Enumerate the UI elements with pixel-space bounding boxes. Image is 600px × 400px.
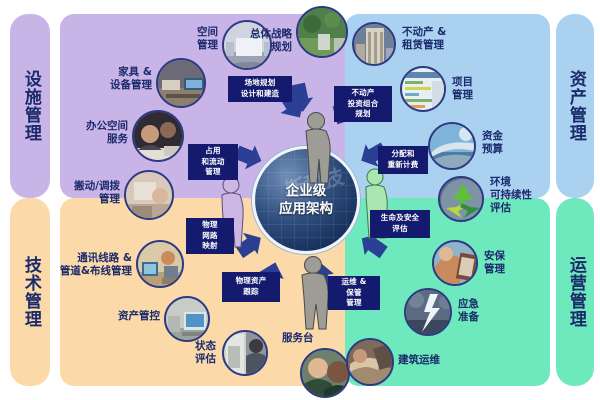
node-label-condition-assess: 状态 评估 xyxy=(168,340,216,366)
process-network-mapping[interactable]: 物理 网路 映射 xyxy=(186,218,234,254)
node-label-emergency-prep: 应急 准备 xyxy=(458,298,502,324)
process-realestate-portfolio[interactable]: 不动产 投资组合 规划 xyxy=(334,86,392,122)
node-label-env-sustain: 环境 可持续性 评估 xyxy=(490,176,548,214)
diagram-canvas: 设施管理 技术管理 资产管理 运营管理 xyxy=(0,0,600,400)
node-label-strategy-plan: 总体战略 规划 xyxy=(246,28,292,54)
process-om-custody[interactable]: 运维 & 保管 管理 xyxy=(328,276,380,310)
node-label-office-space-svc: 办公空间 服务 xyxy=(72,120,128,146)
node-label-move-transfer: 搬动/调拨 管理 xyxy=(58,180,120,206)
process-allocation-chargeback[interactable]: 分配和 重新计费 xyxy=(378,146,428,174)
person-silhouette-grey-top xyxy=(300,112,332,186)
process-life-safety[interactable]: 生命及安全 评估 xyxy=(370,210,430,238)
node-label-asset-control: 资产管控 xyxy=(102,310,160,323)
center-label: 企业级 应用架构 xyxy=(279,182,333,218)
node-label-realestate-lease: 不动产 & 租赁管理 xyxy=(402,26,480,52)
node-label-project-mgmt: 项目 管理 xyxy=(452,76,498,102)
process-asset-tracking[interactable]: 物理资产 跟踪 xyxy=(222,272,280,302)
node-label-service-desk: 服务台 xyxy=(282,332,334,345)
node-label-comm-cabling: 通讯线路 & 管道&布线管理 xyxy=(58,252,132,278)
process-occupancy-mobility[interactable]: 占用 和流动 管理 xyxy=(188,144,238,180)
person-silhouette-grey-bottom xyxy=(296,256,330,332)
node-label-furniture-equip: 家具 & 设备管理 xyxy=(96,66,152,92)
node-label-fund-budget: 资金 预算 xyxy=(482,130,526,156)
node-label-security-mgmt: 安保 管理 xyxy=(484,250,528,276)
process-site-planning[interactable]: 场地规划 设计和建造 xyxy=(228,76,292,102)
node-label-space-mgmt: 空间 管理 xyxy=(172,26,218,52)
node-label-building-om: 建筑运维 xyxy=(398,354,454,367)
